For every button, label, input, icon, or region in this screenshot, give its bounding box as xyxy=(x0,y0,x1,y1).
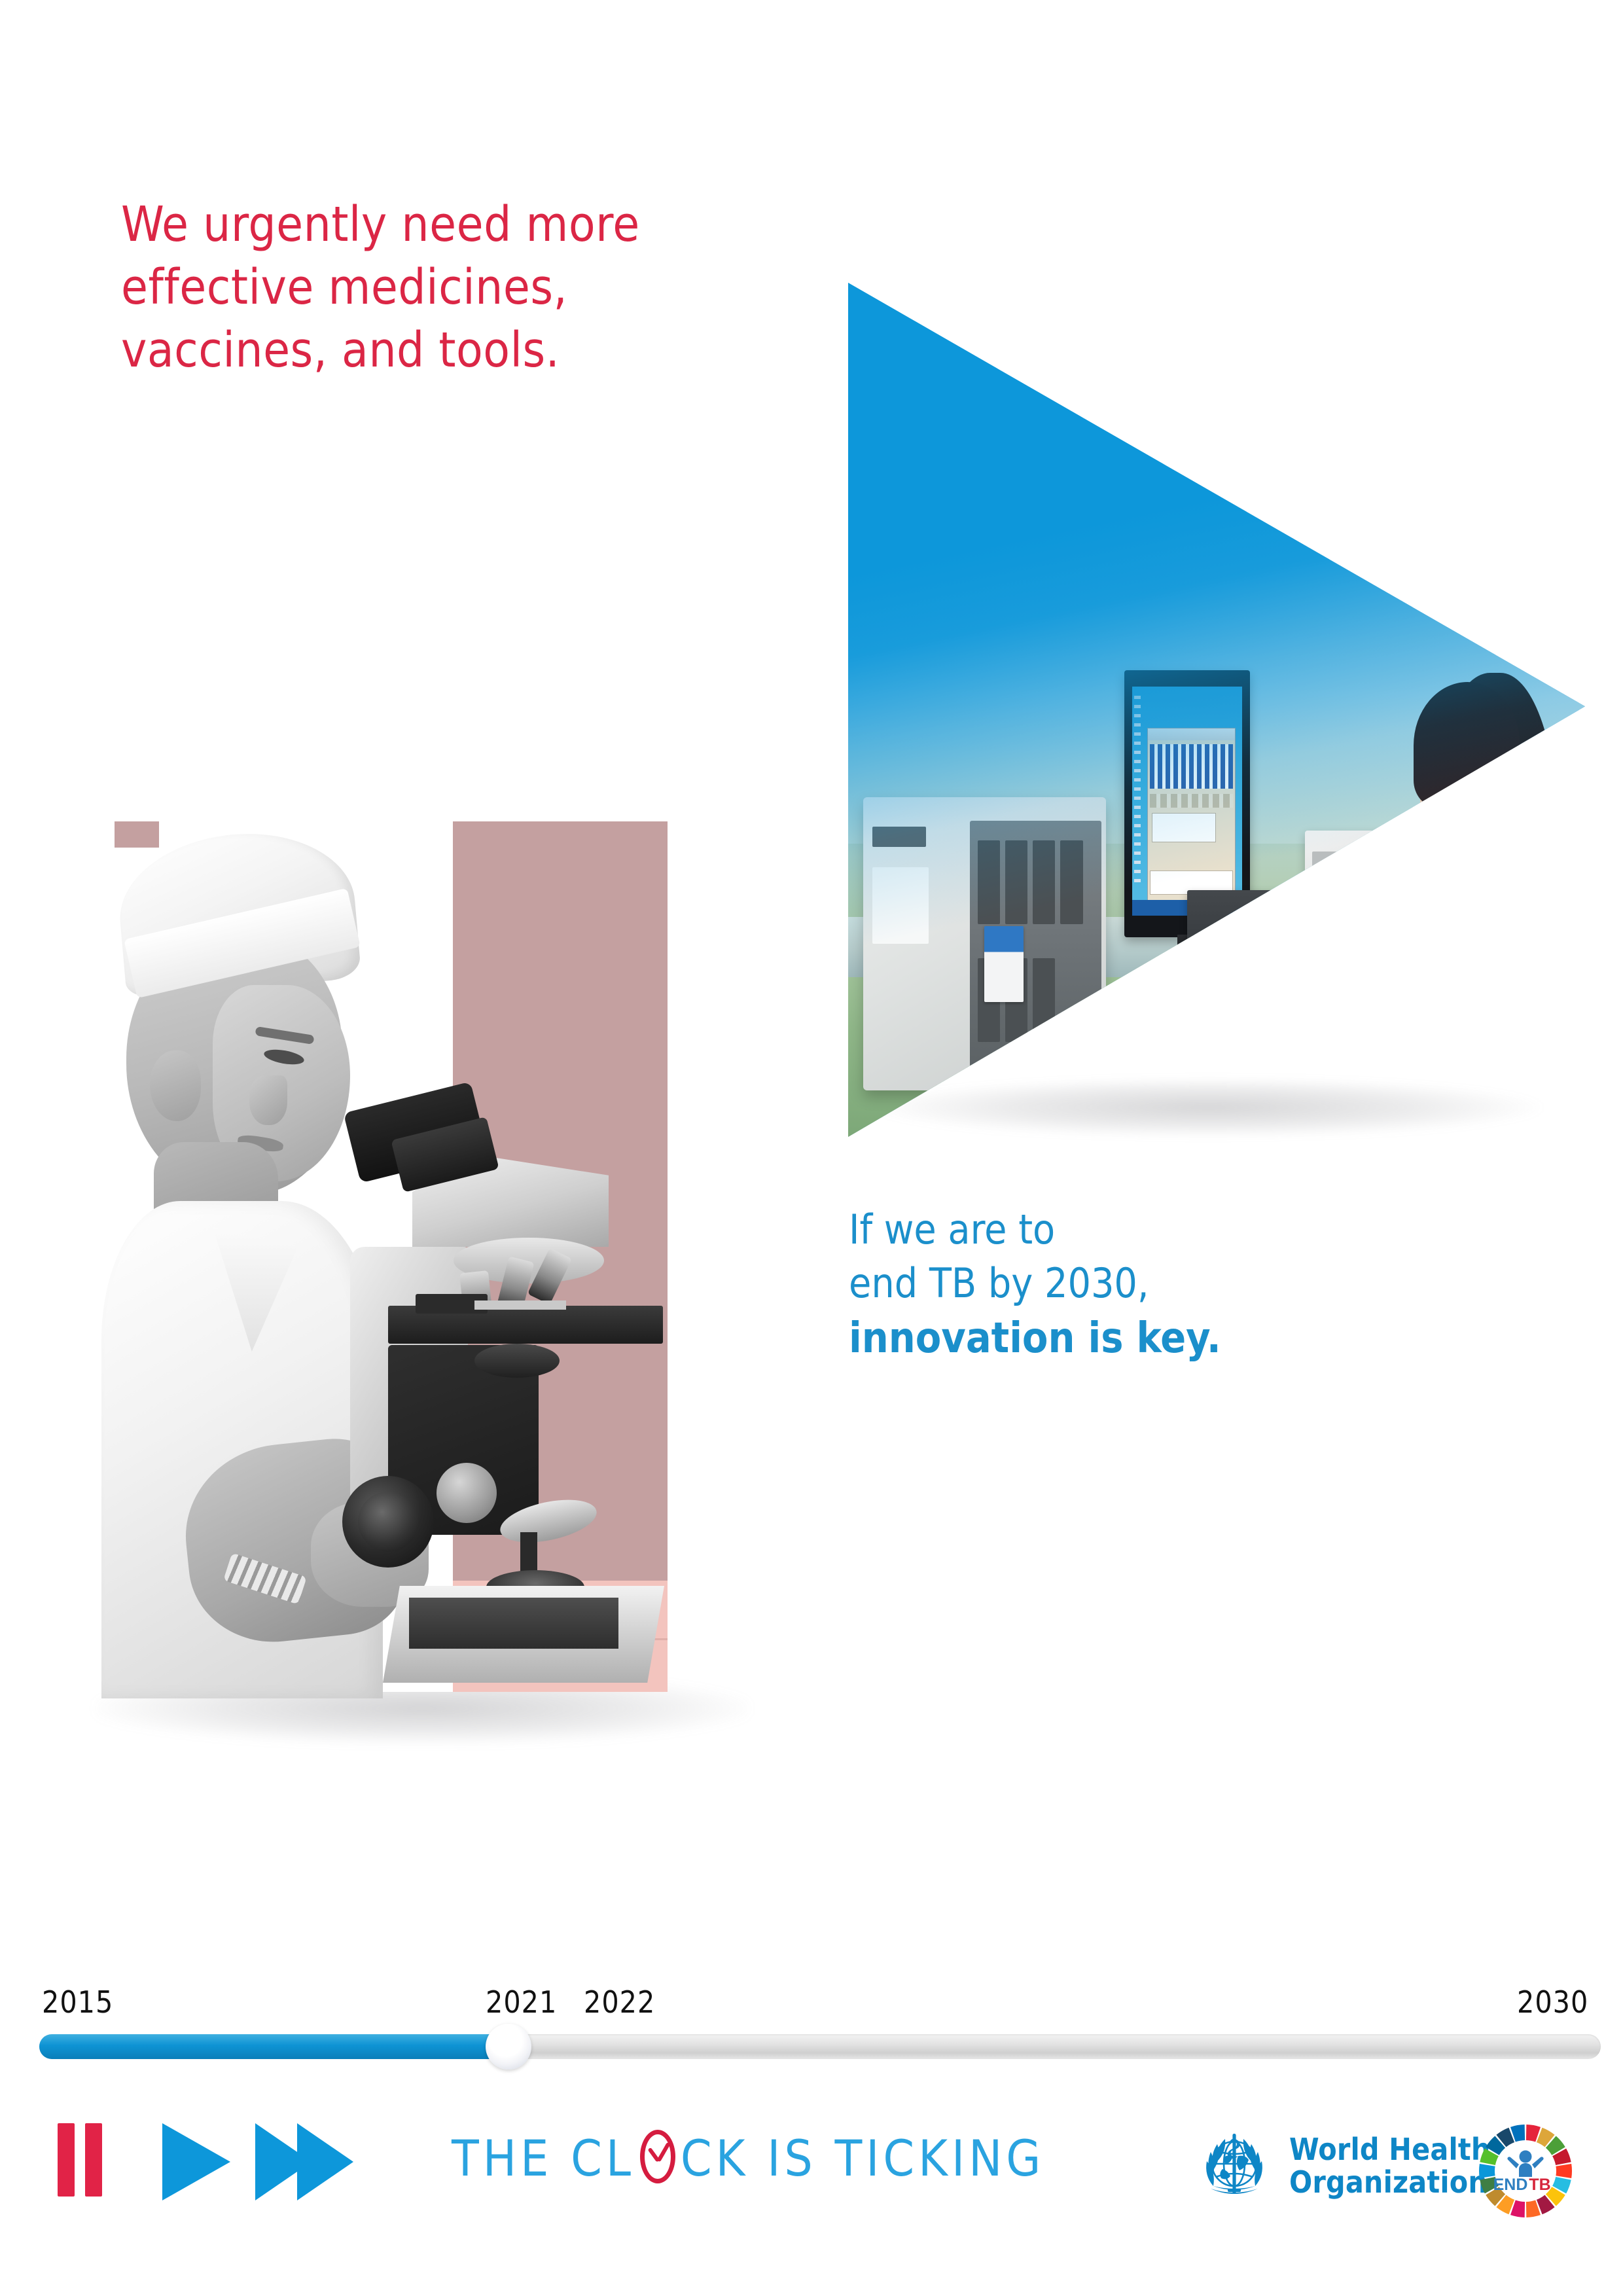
test-cartridge xyxy=(984,926,1023,1002)
monitor-screen xyxy=(1132,687,1242,916)
fast-forward-icon[interactable] xyxy=(255,2123,353,2200)
genexpert-slot xyxy=(978,840,1000,924)
technician-ponytail xyxy=(1499,815,1579,1077)
subhead-line-2: end TB by 2030, xyxy=(849,1257,1438,1310)
end-tb-text-end: END xyxy=(1493,2176,1528,2194)
scientist-ear xyxy=(150,1050,201,1121)
who-wordmark: World Health Organization xyxy=(1289,2134,1491,2198)
result-columns xyxy=(1150,744,1233,789)
pause-icon[interactable] xyxy=(58,2123,103,2197)
page-headline: We urgently need more effective medicine… xyxy=(121,193,808,382)
who-line-2: Organization xyxy=(1289,2166,1491,2199)
mouse-pad xyxy=(1302,984,1397,1024)
headline-line-1: We urgently need more xyxy=(121,193,808,256)
printer-lid xyxy=(1312,852,1416,870)
microscope-photo xyxy=(115,821,668,1692)
lab-technician xyxy=(1349,644,1571,1124)
timeline-label-current: 2021 xyxy=(486,1984,557,2020)
tagline-after: CK IS TICKING xyxy=(681,2129,1044,2187)
genexpert-software-window xyxy=(1147,728,1236,902)
genexpert-label xyxy=(872,867,928,943)
microscope-condenser xyxy=(474,1344,560,1378)
pc-tower xyxy=(1187,890,1291,990)
clock-icon xyxy=(637,2128,678,2185)
technician-hair-top xyxy=(1414,682,1520,807)
genexpert-vent xyxy=(872,827,926,847)
campaign-tagline: THE CLCK IS TICKING xyxy=(452,2128,1044,2187)
lab-photo-triangle xyxy=(848,283,1585,1137)
subhead-line-3-bold: innovation is key. xyxy=(849,1311,1438,1367)
keyboard xyxy=(1272,1003,1442,1056)
microscope-fine-focus-knob xyxy=(358,1492,418,1552)
lab-scene xyxy=(848,471,1585,1137)
genexpert-slot xyxy=(1033,840,1055,924)
lab-printer xyxy=(1305,831,1423,964)
genexpert-slot xyxy=(1005,840,1027,924)
genexpert-machine xyxy=(863,797,1107,1090)
genexpert-slot xyxy=(1033,958,1055,1042)
timeline-label-next: 2022 xyxy=(584,1984,655,2020)
result-panel xyxy=(1152,813,1216,842)
end-tb-logo: END TB xyxy=(1478,2123,1573,2219)
microscope-slide xyxy=(474,1300,566,1310)
timeline-label-start: 2015 xyxy=(42,1984,113,2020)
result-grid xyxy=(1150,794,1233,808)
desktop-icons xyxy=(1134,696,1141,888)
end-tb-text-tb: TB xyxy=(1529,2176,1550,2194)
slider-thumb[interactable] xyxy=(486,2024,531,2070)
headline-line-3: vaccines, and tools. xyxy=(121,319,808,382)
who-emblem-icon xyxy=(1191,2123,1277,2210)
slider-progress-fill xyxy=(39,2034,514,2059)
who-line-1: World Health xyxy=(1289,2134,1491,2166)
printer-tray xyxy=(1315,913,1414,942)
lab-photo-shadow xyxy=(874,1078,1542,1137)
play-icon[interactable] xyxy=(162,2123,230,2200)
timeline-slider[interactable]: 2015 2021 2022 2030 xyxy=(0,1983,1623,2075)
who-logo: World Health Organization xyxy=(1191,2123,1453,2221)
lab-photo-clip xyxy=(848,283,1585,1137)
subhead-line-1: If we are to xyxy=(849,1203,1438,1257)
page-subhead: If we are to end TB by 2030, innovation … xyxy=(849,1203,1438,1367)
sdg-wheel-segment xyxy=(1556,2164,1572,2178)
headline-line-2: effective medicines, xyxy=(121,256,808,319)
microscope xyxy=(311,1083,668,1692)
tagline-before: THE CL xyxy=(452,2129,635,2187)
genexpert-slot xyxy=(1060,840,1082,924)
window-title-bar xyxy=(1148,728,1235,740)
microscope-base-plate xyxy=(409,1598,618,1649)
scientist-nose xyxy=(249,1075,287,1125)
footer-bar: THE CLCK IS TICKING xyxy=(0,2114,1623,2265)
microscope-stage-knob xyxy=(437,1463,497,1523)
timeline-label-end: 2030 xyxy=(1517,1984,1588,2020)
